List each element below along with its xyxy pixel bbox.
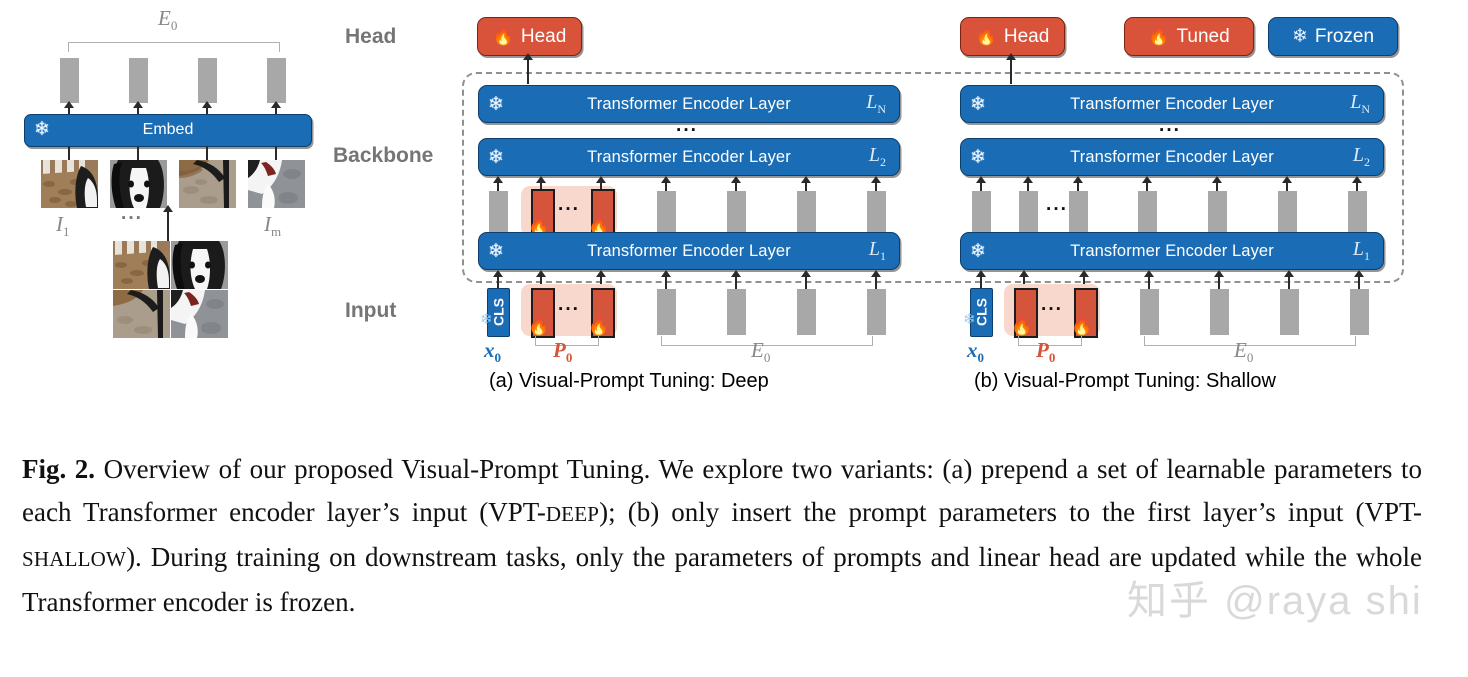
encoder-layer-index: L1: [1353, 238, 1370, 264]
input-arrow-head: [1214, 270, 1224, 277]
encoder-layer-title: Transformer Encoder Layer: [961, 95, 1383, 114]
prompt-ellipsis-input-shallow: ···: [1041, 299, 1063, 321]
p0-label-shallow: P0: [1036, 338, 1055, 366]
input-arrow-head: [1079, 270, 1089, 277]
input-arrow-line: [1148, 276, 1150, 289]
mid-ellipsis-shallow: ···: [1046, 199, 1068, 221]
input-arrow-line: [1288, 276, 1290, 289]
panel-caption-shallow: (b) Visual-Prompt Tuning: Shallow: [974, 370, 1276, 393]
input-arrow-line: [1218, 276, 1220, 289]
flame-icon: 🔥: [1071, 318, 1092, 335]
figure-caption: Fig. 2. Overview of our proposed Visual-…: [22, 448, 1422, 624]
input-arrow-line: [1358, 276, 1360, 289]
cls-token-label: CLS: [974, 292, 990, 333]
head-arrow-head: [1006, 53, 1016, 60]
panel-vpt-shallow: 🔥 Head ❄ Transformer Encoder Layer LN ··…: [0, 0, 1468, 420]
encoder-layer-ln-shallow[interactable]: ❄ Transformer Encoder Layer LN: [960, 85, 1384, 123]
mid-token-shallow: [1348, 191, 1367, 235]
mid-arrow-head: [976, 176, 986, 183]
figure-caption-label: Fig. 2.: [22, 454, 95, 484]
x0-label-shallow: x0: [967, 338, 984, 366]
mid-token-shallow: [1069, 191, 1088, 235]
mid-arrow-head: [1023, 176, 1033, 183]
input-token-patch-shallow: [1280, 289, 1299, 335]
encoder-layer-title: Transformer Encoder Layer: [961, 148, 1383, 167]
encoder-layer-l2-shallow[interactable]: ❄ Transformer Encoder Layer L2: [960, 138, 1384, 176]
input-token-patch-shallow: [1210, 289, 1229, 335]
mid-arrow-head: [1352, 176, 1362, 183]
figure-caption-text-2: ); (b) only insert the prompt parameters…: [599, 497, 1422, 527]
mid-token-shallow: [1278, 191, 1297, 235]
encoder-layer-index: LN: [1350, 91, 1370, 117]
input-arrow-head: [1354, 270, 1364, 277]
input-arrow-head: [1284, 270, 1294, 277]
encoder-layer-title: Transformer Encoder Layer: [961, 242, 1383, 261]
mid-token-shallow: [1138, 191, 1157, 235]
input-arrow-head: [1144, 270, 1154, 277]
flame-icon: 🔥: [1011, 318, 1032, 335]
head-label: Head: [1004, 26, 1049, 48]
input-arrow-head: [1019, 270, 1029, 277]
head-badge-shallow[interactable]: 🔥 Head: [960, 17, 1065, 56]
input-arrow-head: [976, 270, 986, 277]
encoder-layer-l1-shallow[interactable]: ❄ Transformer Encoder Layer L1: [960, 232, 1384, 270]
e0-label-shallow: E0: [1234, 338, 1253, 366]
mid-arrow-head: [1282, 176, 1292, 183]
head-arrow-line: [1010, 58, 1012, 84]
mid-token-shallow: [1019, 191, 1038, 235]
figure-caption-smallcaps-deep: deep: [546, 502, 599, 526]
figure-caption-smallcaps-shallow: shallow: [22, 547, 126, 571]
encoder-layer-index: L2: [1353, 144, 1370, 170]
figure-caption-text-3: ). During training on downstream tasks, …: [22, 542, 1422, 617]
input-token-patch-shallow: [1140, 289, 1159, 335]
mid-arrow-head: [1212, 176, 1222, 183]
input-token-patch-shallow: [1350, 289, 1369, 335]
mid-token-shallow: [1208, 191, 1227, 235]
snowflake-icon: ❄: [963, 312, 976, 327]
mid-arrow-head: [1073, 176, 1083, 183]
mid-token-shallow: [972, 191, 991, 235]
mid-arrow-head: [1142, 176, 1152, 183]
flame-icon: 🔥: [976, 28, 997, 45]
